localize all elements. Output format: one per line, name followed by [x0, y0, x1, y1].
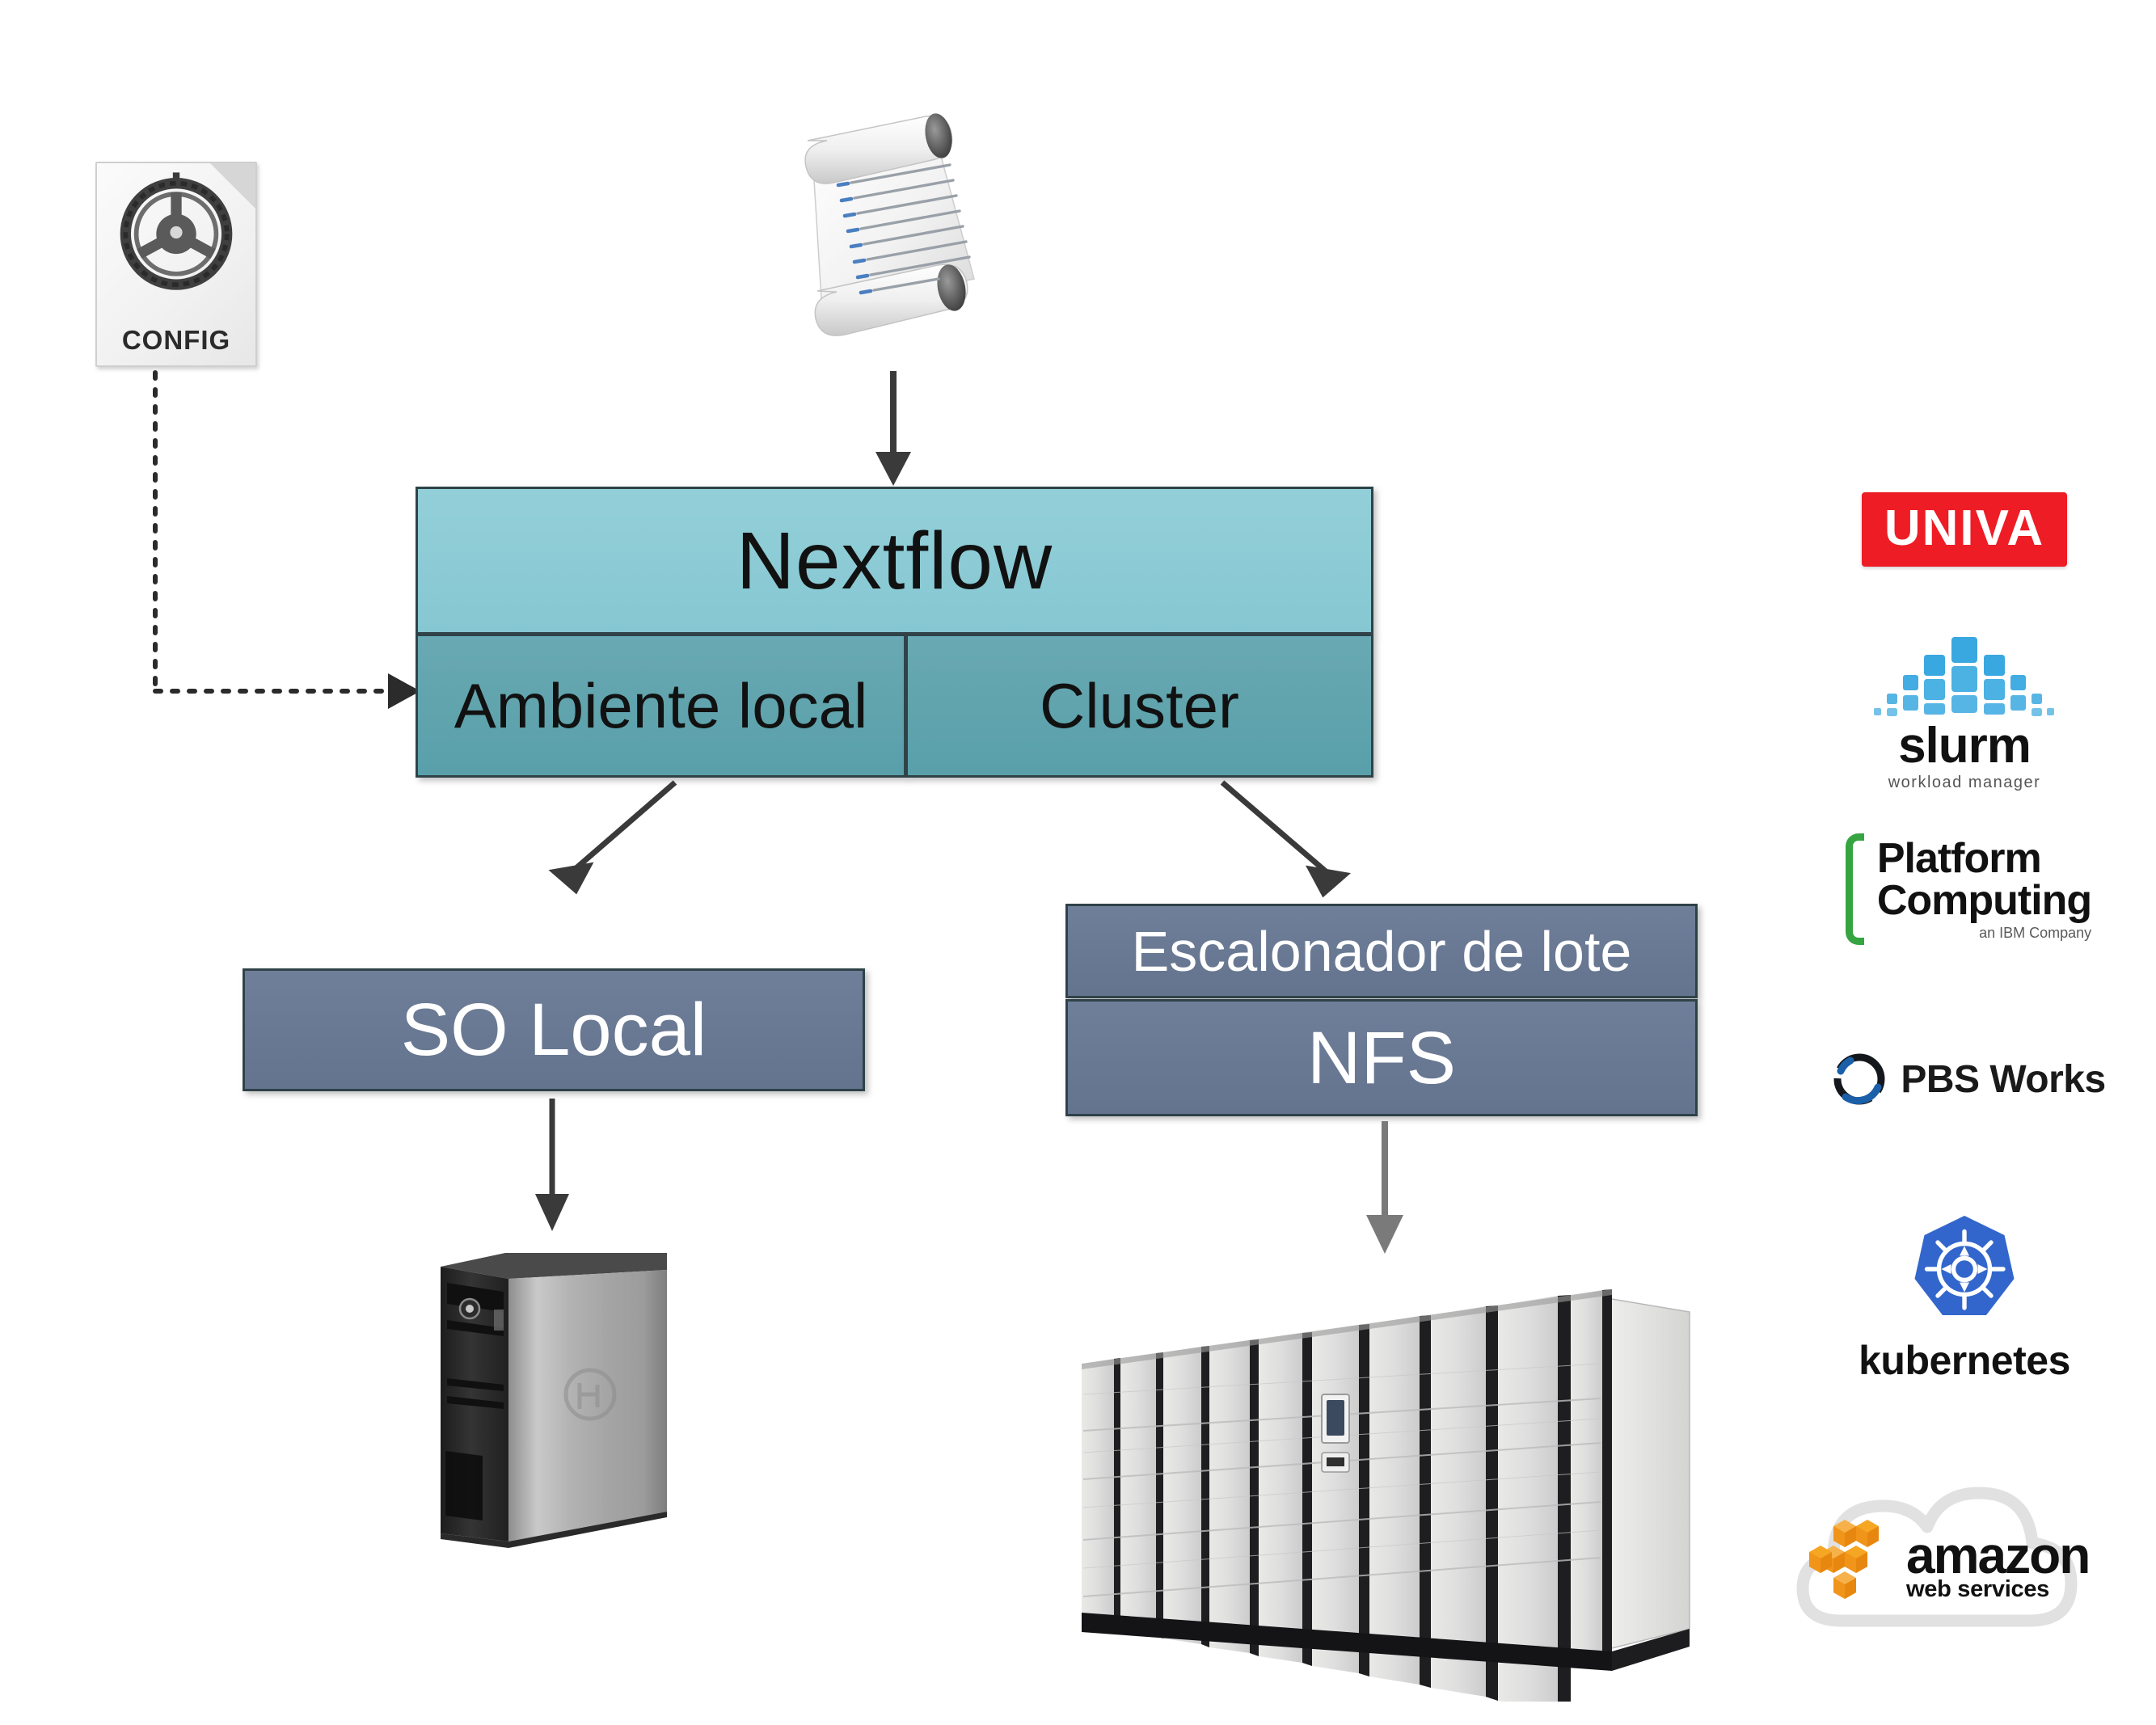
so-local-label: SO Local: [401, 993, 707, 1067]
script-to-nextflow-arrow: [869, 368, 926, 489]
escalonador-de-lote-box[interactable]: Escalonador de lote: [1065, 904, 1698, 998]
cluster-to-escalonador-arrow: [1205, 776, 1366, 905]
univa-logo: UNIVA: [1843, 485, 2086, 574]
config-to-ambiente-arrow: [146, 368, 437, 707]
nfs-box[interactable]: NFS: [1065, 999, 1698, 1116]
script-scroll-icon: [788, 105, 1002, 352]
amazon-wordmark: amazon: [1906, 1533, 2089, 1578]
nextflow-label: Nextflow: [736, 521, 1053, 601]
aws-cubes-icon: [1809, 1518, 1900, 1604]
ambiente-local-label: Ambiente local: [454, 674, 868, 737]
kubernetes-logo: kubernetes: [1843, 1204, 2086, 1390]
ambiente-local-box[interactable]: Ambiente local: [416, 634, 906, 778]
nextflow-box[interactable]: Nextflow: [416, 487, 1373, 635]
pbs-works-wordmark: PBS Works: [1901, 1057, 2105, 1102]
page-fold-corner: [210, 163, 255, 209]
diagram-canvas: CONFIG: [0, 0, 2156, 1725]
slurm-pyramid-icon: [1867, 631, 2061, 719]
escalonador-label: Escalonador de lote: [1132, 923, 1632, 980]
nfs-to-server-rack-arrow: [1358, 1120, 1415, 1265]
green-bracket-icon: [1846, 833, 1864, 945]
desktop-workstation-image: [424, 1233, 691, 1560]
pbs-works-logo: PBS Works: [1831, 1043, 2106, 1116]
univa-label: UNIVA: [1884, 504, 2044, 554]
slurm-wordmark: slurm: [1898, 723, 2031, 770]
ibm-company-tagline: an IBM Company: [1877, 925, 2091, 942]
cluster-label: Cluster: [1040, 674, 1239, 737]
so-local-to-workstation-arrow: [525, 1095, 582, 1241]
kubernetes-helm-icon: [1904, 1211, 2025, 1332]
config-label: CONFIG: [97, 325, 255, 356]
pbs-circle-arrow-icon: [1831, 1051, 1888, 1107]
cluster-box[interactable]: Cluster: [905, 634, 1373, 778]
nfs-label: NFS: [1307, 1021, 1456, 1095]
ambiente-to-so-local-arrow: [534, 776, 695, 905]
platform-computing-logo: Platform Computing an IBM Company: [1827, 825, 2110, 954]
so-local-box[interactable]: SO Local: [243, 968, 865, 1091]
slurm-logo: slurm workload manager: [1843, 622, 2086, 800]
amazon-web-services-logo: amazon web services: [1778, 1455, 2142, 1657]
server-rack-cluster-image: [1075, 1273, 1714, 1706]
slurm-tagline: workload manager: [1888, 774, 2041, 792]
computing-word: Computing: [1877, 879, 2091, 922]
kubernetes-wordmark: kubernetes: [1859, 1337, 2070, 1384]
platform-word: Platform: [1877, 837, 2091, 879]
config-file-icon: CONFIG: [95, 162, 257, 367]
